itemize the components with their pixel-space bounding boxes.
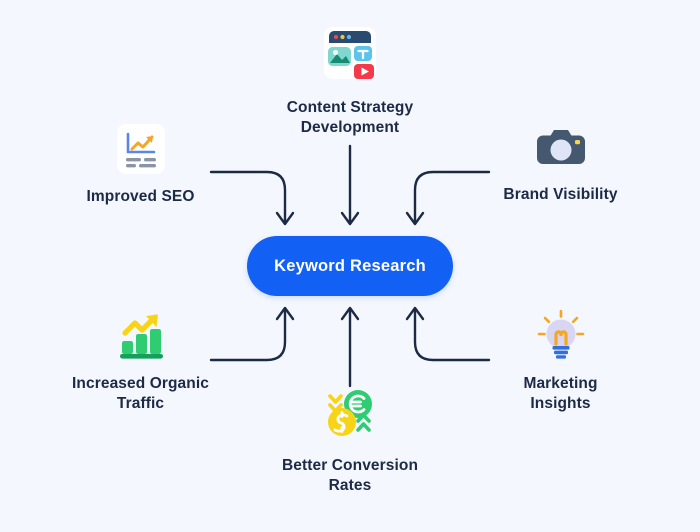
- node-improved-seo[interactable]: Improved SEO: [48, 121, 233, 207]
- diagram-canvas: Keyword Research Improved SEO: [0, 0, 700, 532]
- currency-coins-icon: [319, 384, 381, 446]
- connector-content-strategy: [342, 146, 358, 224]
- node-label-content-strategy-development: Content Strategy Development: [287, 98, 413, 138]
- node-label-marketing-insights: Marketing Insights: [523, 374, 597, 414]
- hub-node-keyword-research[interactable]: Keyword Research: [247, 236, 453, 296]
- node-increased-organic-traffic[interactable]: Increased Organic Traffic: [48, 306, 233, 414]
- node-label-better-conversion-rates: Better Conversion Rates: [282, 456, 418, 496]
- seo-report-chart-icon: [113, 121, 169, 177]
- growth-bar-chart-icon: [112, 306, 170, 364]
- hub-node-label: Keyword Research: [274, 257, 426, 276]
- connector-better-conversion-rates: [342, 308, 358, 386]
- node-brand-visibility[interactable]: Brand Visibility: [468, 119, 653, 205]
- node-marketing-insights[interactable]: Marketing Insights: [468, 306, 653, 414]
- browser-media-content-icon: [317, 22, 383, 88]
- node-label-brand-visibility: Brand Visibility: [503, 185, 617, 205]
- node-label-increased-organic-traffic: Increased Organic Traffic: [72, 374, 209, 414]
- camera-icon: [533, 119, 589, 175]
- node-label-improved-seo: Improved SEO: [86, 187, 194, 207]
- node-better-conversion-rates[interactable]: Better Conversion Rates: [250, 384, 450, 496]
- lightbulb-idea-icon: [532, 306, 590, 364]
- node-content-strategy-development[interactable]: Content Strategy Development: [250, 22, 450, 138]
